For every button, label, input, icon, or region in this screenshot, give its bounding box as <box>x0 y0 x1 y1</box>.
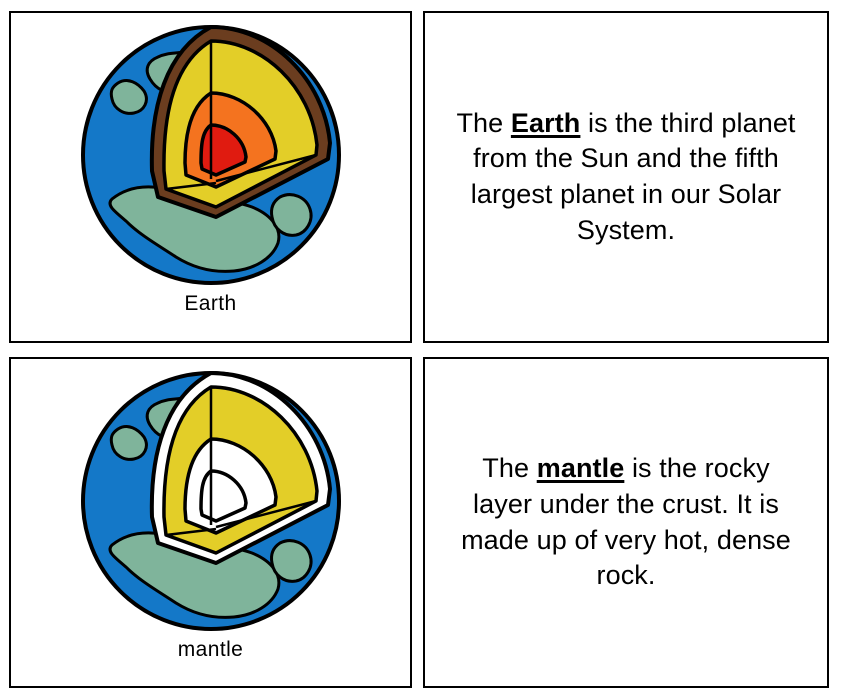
card-mantle-description[interactable]: The mantle is the rocky layer under the … <box>423 357 829 688</box>
card-earth-picture[interactable]: Earth <box>9 11 412 343</box>
land-east <box>271 195 311 236</box>
text-before-keyword: The <box>456 108 510 138</box>
mantle-cutaway-globe-icon <box>66 367 356 635</box>
mantle-globe-illustration: mantle <box>11 359 410 686</box>
earth-cutaway-globe-icon <box>66 21 356 289</box>
earth-globe-illustration: Earth <box>11 13 410 341</box>
card-mantle-picture[interactable]: mantle <box>9 357 412 688</box>
picture-card-label: mantle <box>178 639 243 660</box>
keyword-earth: Earth <box>511 108 581 138</box>
land-east <box>271 541 311 582</box>
picture-card-label: Earth <box>184 293 236 314</box>
description-text: The Earth is the third planet from the S… <box>425 106 827 249</box>
card-earth-description[interactable]: The Earth is the third planet from the S… <box>423 11 829 343</box>
text-before-keyword: The <box>482 453 536 483</box>
keyword-mantle: mantle <box>537 453 625 483</box>
nomenclature-card-sheet: Earth The Earth is the third planet from… <box>0 0 841 700</box>
description-text: The mantle is the rocky layer under the … <box>425 451 827 594</box>
